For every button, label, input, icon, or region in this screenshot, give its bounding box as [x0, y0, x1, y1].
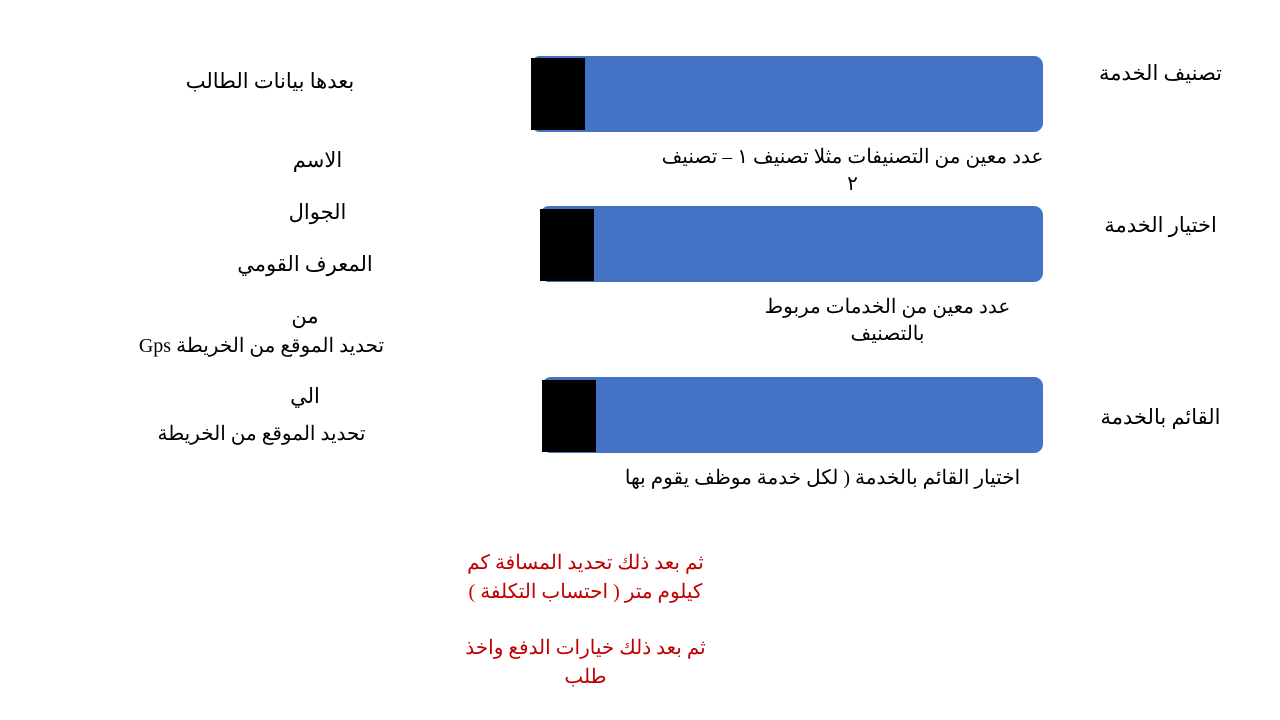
stage-bar-1 — [531, 56, 1043, 132]
stage-bar-3-block — [542, 380, 596, 452]
stage-caption-3: اختيار القائم بالخدمة ( لكل خدمة موظف يق… — [600, 465, 1045, 492]
trip-from-label: من — [205, 303, 405, 330]
student-field-mobile: الجوال — [230, 199, 405, 226]
trip-to-value: تحديد الموقع من الخريطة — [118, 421, 405, 447]
note-distance-cost: ثم بعد ذلك تحديد المسافة كم كيلوم متر ( … — [448, 549, 723, 607]
stage-bar-2 — [540, 206, 1043, 282]
note-payment-order: ثم بعد ذلك خيارات الدفع واخذ طلب — [448, 634, 723, 692]
trip-to-label: الي — [205, 383, 405, 410]
stage-label-2: اختيار الخدمة — [1053, 212, 1268, 238]
stage-bar-2-block — [540, 209, 594, 281]
stage-caption-2: عدد معين من الخدمات مربوط بالتصنيف — [730, 294, 1045, 348]
stage-label-1: تصنيف الخدمة — [1053, 60, 1268, 86]
stage-label-3: القائم بالخدمة — [1053, 404, 1268, 430]
student-field-name: الاسم — [230, 147, 405, 174]
slide-canvas: تصنيف الخدمة عدد معين من التصنيفات مثلا … — [0, 0, 1280, 720]
stage-bar-1-block — [531, 58, 585, 130]
trip-from-value: تحديد الموقع من الخريطة Gps — [118, 333, 405, 359]
student-data-heading: بعدها بيانات الطالب — [140, 68, 400, 95]
stage-bar-3 — [542, 377, 1043, 453]
student-field-national-id: المعرف القومي — [205, 251, 405, 278]
stage-caption-1: عدد معين من التصنيفات مثلا تصنيف ١ – تصن… — [660, 144, 1045, 198]
